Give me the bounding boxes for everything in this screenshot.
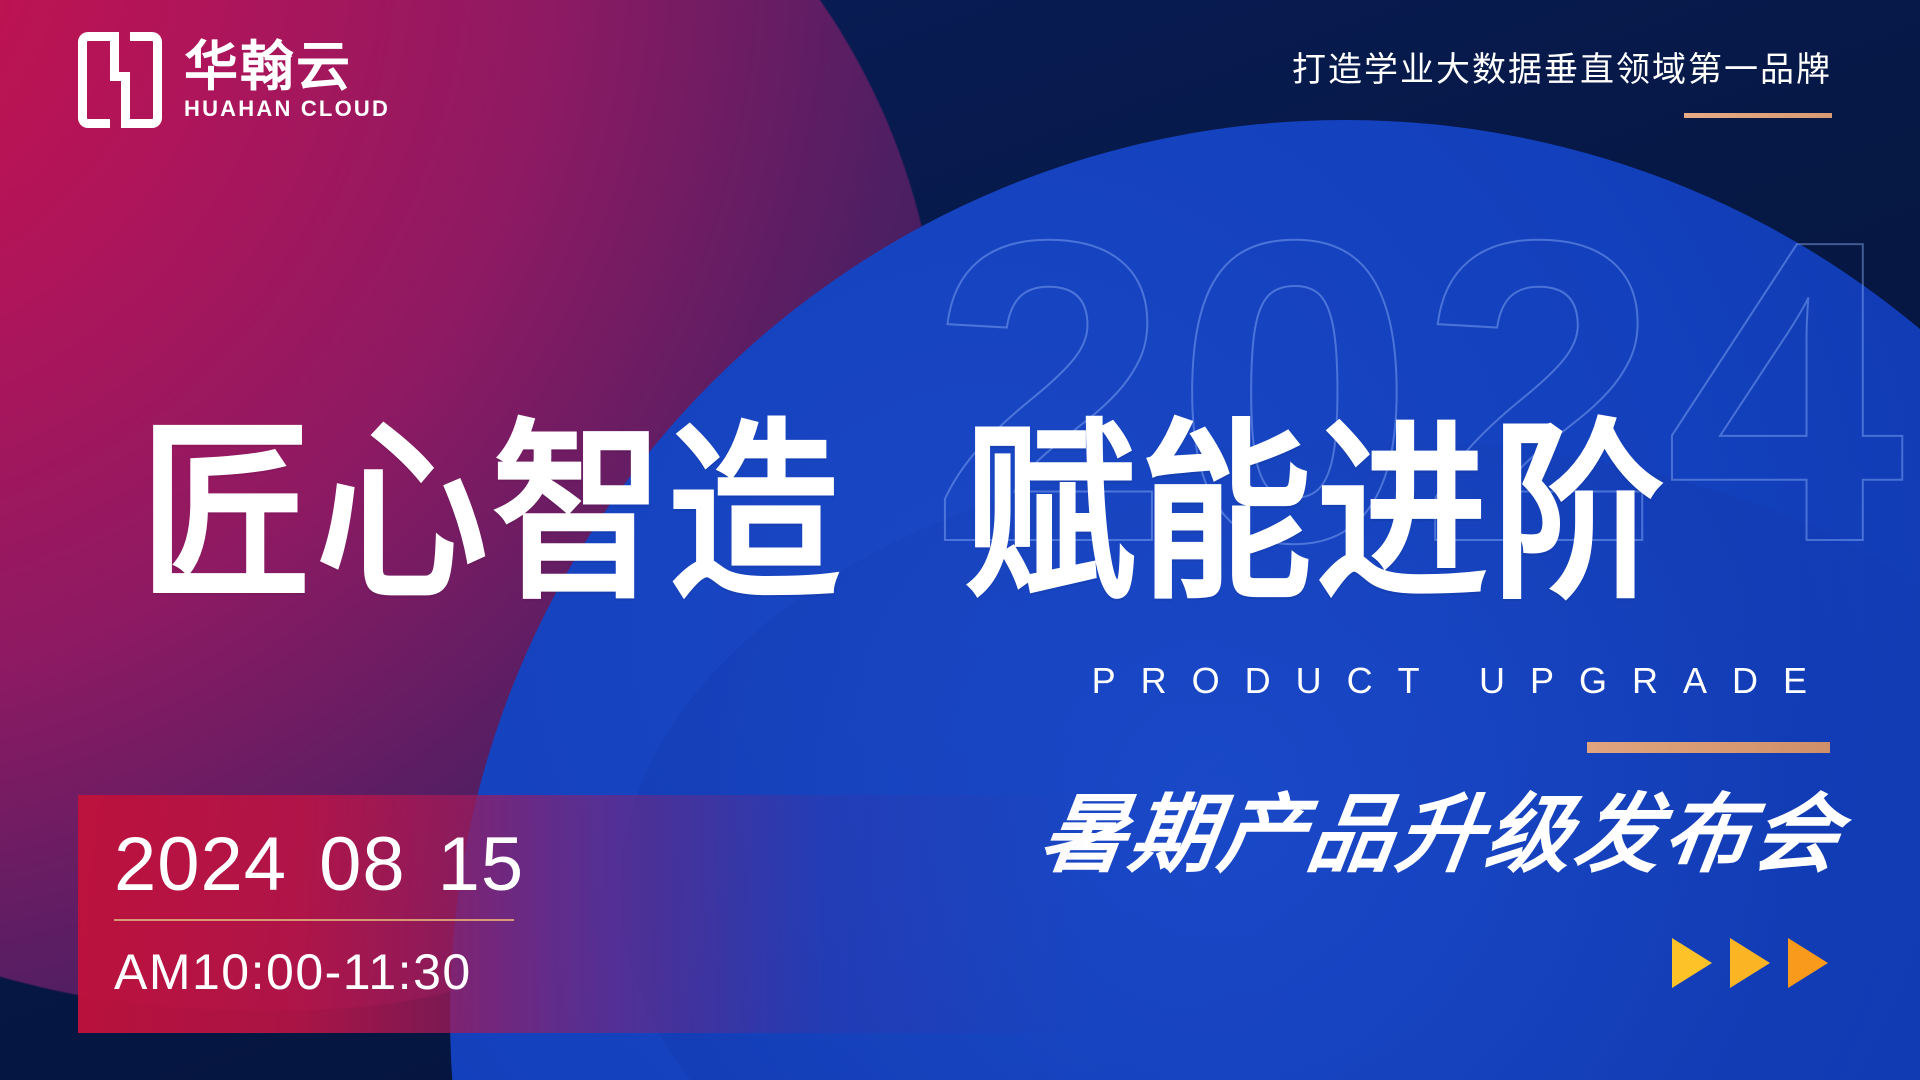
brand-name-en: HUAHAN CLOUD — [184, 97, 390, 121]
subtitle-english: PRODUCT UPGRADE — [1092, 660, 1832, 702]
subtitle-chinese: 暑期产品升级发布会 — [1035, 790, 1849, 880]
headline-part-1: 匠心智造 — [140, 418, 844, 611]
triangle-right-icon-2 — [1730, 938, 1770, 988]
event-banner: 2024 华翰云 HUAHAN CLOUD 打造学业大数据垂直领域第一品牌 匠心… — [0, 0, 1920, 1080]
brand-wordmark: 华翰云 HUAHAN CLOUD — [184, 39, 390, 122]
event-day: 15 — [438, 825, 525, 905]
date-underline — [114, 919, 514, 921]
event-time: AM10:00-11:30 — [114, 945, 514, 1000]
headline: 匠心智造 赋能进阶 — [140, 418, 1668, 611]
tagline-underline — [1684, 113, 1832, 118]
date-panel-inner: 2024 08 15 AM10:00-11:30 — [114, 825, 514, 1000]
event-date-row: 2024 08 15 — [114, 825, 514, 905]
copper-divider — [1587, 742, 1830, 753]
event-month: 08 — [319, 825, 406, 905]
tagline-text: 打造学业大数据垂直领域第一品牌 — [1292, 50, 1832, 91]
triangle-right-icon-1 — [1672, 938, 1712, 988]
brand-logo: 华翰云 HUAHAN CLOUD — [78, 32, 390, 128]
date-panel: 2024 08 15 AM10:00-11:30 — [78, 795, 1088, 1033]
arrow-group — [1672, 938, 1828, 988]
headline-part-2: 赋能进阶 — [964, 418, 1668, 611]
tagline-block: 打造学业大数据垂直领域第一品牌 — [1292, 50, 1832, 118]
triangle-right-icon-3 — [1788, 938, 1828, 988]
event-year: 2024 — [114, 825, 287, 905]
brand-name-cn: 华翰云 — [184, 39, 390, 96]
h-monogram-icon — [78, 32, 162, 128]
